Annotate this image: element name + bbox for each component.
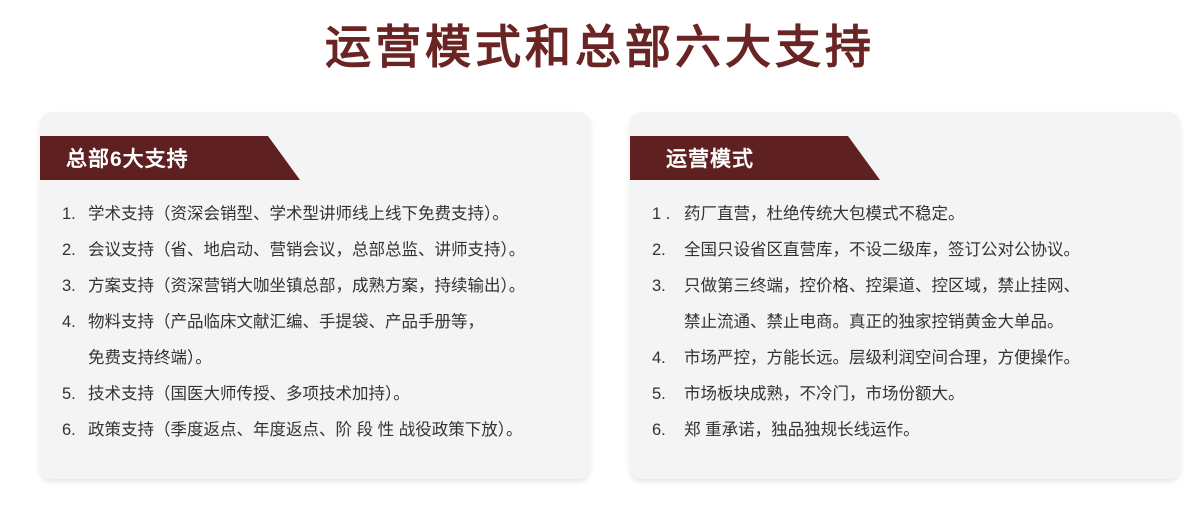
list-item-marker: 5. bbox=[652, 376, 684, 412]
ribbon-tail-icon bbox=[848, 136, 880, 180]
list-item-marker: 3. bbox=[652, 268, 684, 304]
list-item-text: 全国只设省区直营库，不设二级库，签订公对公协议。 bbox=[684, 232, 1080, 268]
ribbon-label-left: 总部6大支持 bbox=[40, 143, 189, 173]
list-item-text: 市场严控，方能长远。层级利润空间合理，方便操作。 bbox=[684, 340, 1080, 376]
list-item-marker: 4. bbox=[62, 304, 88, 340]
list-item-marker: 1. bbox=[62, 196, 88, 232]
list-item-text: 技术支持（国医大师传授、多项技术加持）。 bbox=[88, 376, 410, 412]
list-item: 3. 方案支持（资深营销大咖坐镇总部，成熟方案，持续输出）。 bbox=[62, 268, 576, 304]
ribbon-tail-icon bbox=[268, 136, 300, 180]
list-item-text: 政策支持（季度返点、年度返点、阶 段 性 战役政策下放）。 bbox=[88, 412, 523, 448]
poster-page: 运营模式和总部六大支持 总部6大支持 1. 学术支持（资深会销型、学术型讲师线上… bbox=[0, 0, 1200, 509]
list-item-marker: 6. bbox=[62, 412, 88, 448]
ribbon-label-right: 运营模式 bbox=[630, 143, 754, 173]
card-ribbon-right: 运营模式 bbox=[630, 136, 848, 180]
list-item: 5. 市场板块成熟，不冷门，市场份额大。 bbox=[652, 376, 1166, 412]
list-item: 4. 市场严控，方能长远。层级利润空间合理，方便操作。 bbox=[652, 340, 1166, 376]
list-item-text: 郑 重承诺，独品独规长线运作。 bbox=[684, 412, 920, 448]
list-item: 6. 政策支持（季度返点、年度返点、阶 段 性 战役政策下放）。 bbox=[62, 412, 576, 448]
list-item: 2. 会议支持（省、地启动、营销会议，总部总监、讲师支持）。 bbox=[62, 232, 576, 268]
list-item-text: 只做第三终端，控价格、控渠道、控区域，禁止挂网、 bbox=[684, 268, 1080, 304]
list-item-marker: 3. bbox=[62, 268, 88, 304]
list-item: 3. 只做第三终端，控价格、控渠道、控区域，禁止挂网、 bbox=[652, 268, 1166, 304]
list-item-continuation: 禁止流通、禁止电商。真正的独家控销黄金大单品。 bbox=[652, 304, 1166, 340]
list-item-marker: 5. bbox=[62, 376, 88, 412]
list-item: 1 . 药厂直营，杜绝传统大包模式不稳定。 bbox=[652, 196, 1166, 232]
card-operating-model: 运营模式 1 . 药厂直营，杜绝传统大包模式不稳定。 2. 全国只设省区直营库，… bbox=[630, 112, 1180, 479]
list-item-continuation: 免费支持终端）。 bbox=[62, 340, 576, 376]
list-item: 2. 全国只设省区直营库，不设二级库，签订公对公协议。 bbox=[652, 232, 1166, 268]
list-item-text: 药厂直营，杜绝传统大包模式不稳定。 bbox=[684, 196, 965, 232]
support-list: 1. 学术支持（资深会销型、学术型讲师线上线下免费支持）。 2. 会议支持（省、… bbox=[62, 196, 576, 448]
list-item-marker: 2. bbox=[62, 232, 88, 268]
card-ribbon-left: 总部6大支持 bbox=[40, 136, 268, 180]
page-title: 运营模式和总部六大支持 bbox=[0, 18, 1200, 76]
list-item-text: 物料支持（产品临床文献汇编、手提袋、产品手册等， bbox=[88, 304, 484, 340]
list-item-marker: 2. bbox=[652, 232, 684, 268]
list-item-marker: 4. bbox=[652, 340, 684, 376]
list-item: 5. 技术支持（国医大师传授、多项技术加持）。 bbox=[62, 376, 576, 412]
list-item-text: 会议支持（省、地启动、营销会议，总部总监、讲师支持）。 bbox=[88, 232, 525, 268]
list-item: 6. 郑 重承诺，独品独规长线运作。 bbox=[652, 412, 1166, 448]
list-item-text: 学术支持（资深会销型、学术型讲师线上线下免费支持）。 bbox=[88, 196, 509, 232]
card-headquarters-support: 总部6大支持 1. 学术支持（资深会销型、学术型讲师线上线下免费支持）。 2. … bbox=[40, 112, 590, 479]
list-item: 4. 物料支持（产品临床文献汇编、手提袋、产品手册等， bbox=[62, 304, 576, 340]
operating-model-list: 1 . 药厂直营，杜绝传统大包模式不稳定。 2. 全国只设省区直营库，不设二级库… bbox=[652, 196, 1166, 448]
list-item-text: 方案支持（资深营销大咖坐镇总部，成熟方案，持续输出）。 bbox=[88, 268, 525, 304]
list-item-marker: 1 . bbox=[652, 196, 684, 232]
list-item-text: 市场板块成熟，不冷门，市场份额大。 bbox=[684, 376, 965, 412]
list-item: 1. 学术支持（资深会销型、学术型讲师线上线下免费支持）。 bbox=[62, 196, 576, 232]
list-item-marker: 6. bbox=[652, 412, 684, 448]
